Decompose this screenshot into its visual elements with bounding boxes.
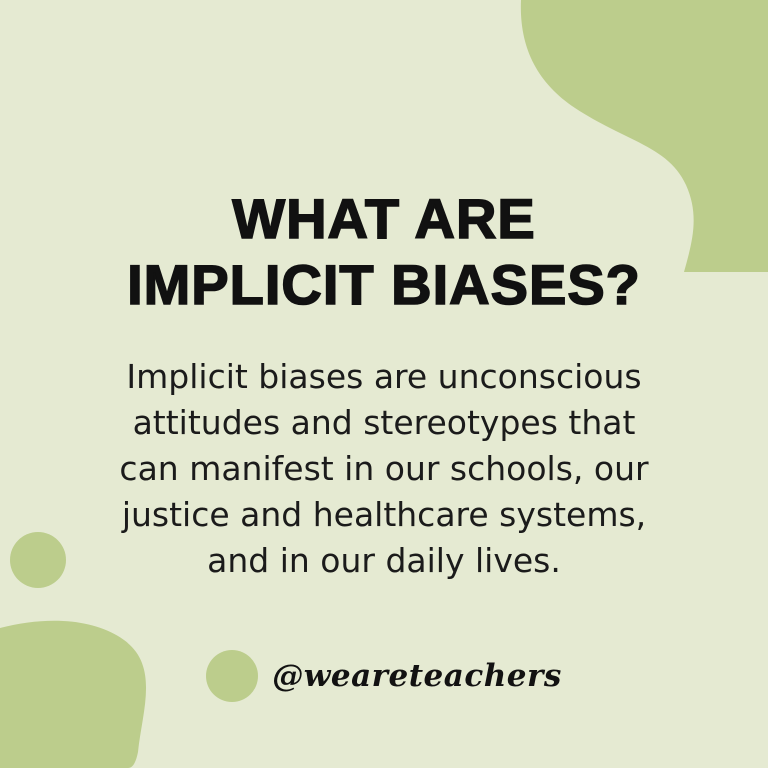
body-line-4: justice and healthcare systems, [114,492,654,538]
body-line-3: can manifest in our schools, our [114,446,654,492]
footer-handle-row: @weareteachers [0,650,768,702]
social-quote-card: WHAT ARE IMPLICIT BIASES? Implicit biase… [0,0,768,768]
page-title: WHAT ARE IMPLICIT BIASES? [127,186,641,318]
handle-circle-icon [206,650,258,702]
title-line-1: WHAT ARE [127,186,641,252]
social-handle: @weareteachers [272,658,562,694]
body-line-5: and in our daily lives. [114,538,654,584]
title-line-2: IMPLICIT BIASES? [127,252,641,318]
body-text: Implicit biases are unconscious attitude… [114,354,654,584]
body-line-1: Implicit biases are unconscious [114,354,654,400]
card-content: WHAT ARE IMPLICIT BIASES? Implicit biase… [0,0,768,768]
body-line-2: attitudes and stereotypes that [114,400,654,446]
